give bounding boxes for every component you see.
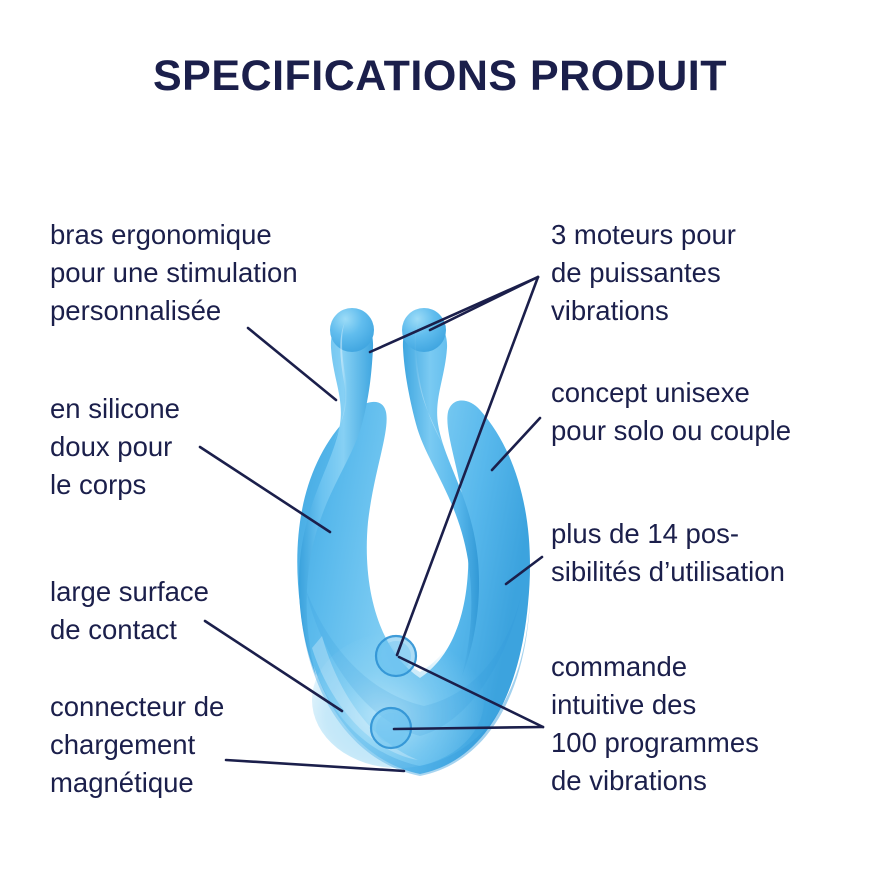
label-line: large surface [50,573,209,611]
label-line: doux pour [50,428,180,466]
label-line: de contact [50,611,209,649]
label-line: le corps [50,466,180,504]
label-line: pour une stimulation [50,254,298,292]
label-line: commande [551,648,759,686]
label-three-motors: 3 moteurs pour de puissantes vibrations [551,216,736,330]
label-line: 3 moteurs pour [551,216,736,254]
label-line: magnétique [50,764,224,802]
label-line: chargement [50,726,224,764]
label-line: de puissantes [551,254,736,292]
label-line: en silicone [50,390,180,428]
label-line: sibilités d’utilisation [551,553,785,591]
label-line: 100 programmes [551,724,759,762]
label-line: personnalisée [50,292,298,330]
label-unisex-concept: concept unisexe pour solo ou couple [551,374,791,450]
lower-control-button[interactable] [370,707,412,749]
label-line: bras ergonomique [50,216,298,254]
label-line: concept unisexe [551,374,791,412]
label-hundred-programs: commande intuitive des 100 programmes de… [551,648,759,800]
label-line: pour solo ou couple [551,412,791,450]
label-line: intuitive des [551,686,759,724]
label-soft-silicone: en silicone doux pour le corps [50,390,180,504]
label-line: vibrations [551,292,736,330]
product-specifications-page: SPECIFICATIONS PRODUIT bras ergonomique … [0,0,880,880]
label-fourteen-uses: plus de 14 pos- sibilités d’utilisation [551,515,785,591]
label-line: plus de 14 pos- [551,515,785,553]
page-title: SPECIFICATIONS PRODUIT [0,52,880,101]
label-ergonomic-arm: bras ergonomique pour une stimulation pe… [50,216,298,330]
label-magnetic-charging-connector: connecteur de chargement magnétique [50,688,224,802]
label-line: de vibrations [551,762,759,800]
label-line: connecteur de [50,688,224,726]
label-large-contact-surface: large surface de contact [50,573,209,649]
upper-control-button[interactable] [375,635,417,677]
